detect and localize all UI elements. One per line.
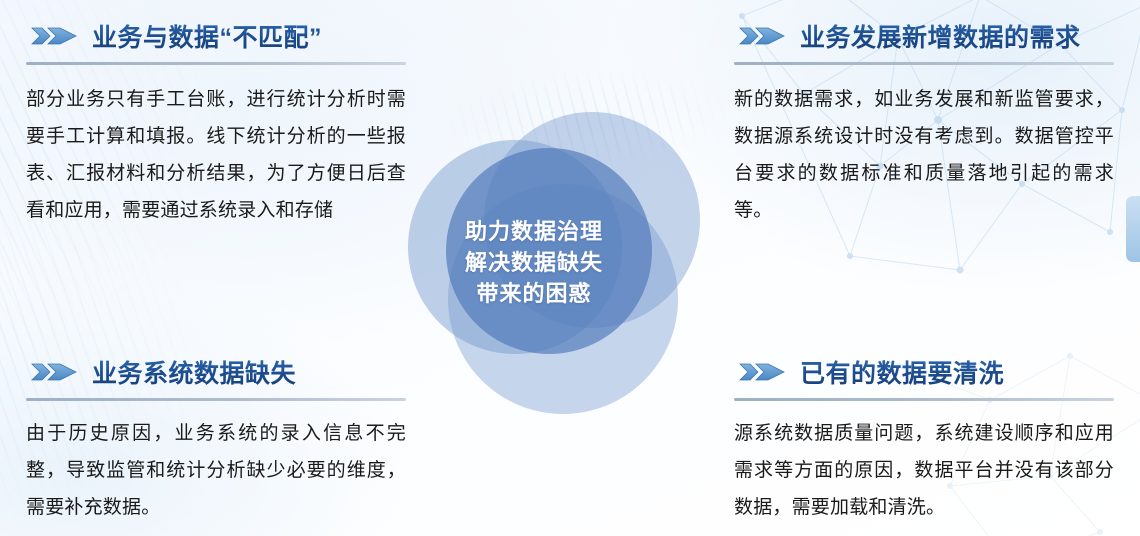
panel-grid: 业务与数据“不匹配” 部分业务只有手工台账，进行统计分析时需要手工计算和填报。线…	[0, 0, 1140, 536]
panel-divider	[734, 62, 1114, 65]
panel-top-right: 业务发展新增数据的需求 新的数据需求，如业务发展和新监管要求，数据源系统设计时没…	[710, 0, 1140, 340]
arrow-right-icon	[738, 358, 786, 386]
panel-heading-row: 业务发展新增数据的需求	[734, 16, 1114, 56]
panel-heading-row: 业务与数据“不匹配”	[26, 16, 406, 56]
slide-canvas: 助力数据治理 解决数据缺失 带来的困惑 业务与数据“不匹配”	[0, 0, 1140, 536]
panel-title: 业务系统数据缺失	[92, 354, 296, 390]
arrow-right-icon	[738, 22, 786, 50]
panel-title: 已有的数据要清洗	[800, 354, 1004, 390]
panel-bottom-right: 已有的数据要清洗 源系统数据质量问题，系统建设顺序和应用需求等方面的原因，数据平…	[710, 340, 1140, 536]
panel-title: 业务与数据“不匹配”	[92, 18, 322, 54]
panel-top-left: 业务与数据“不匹配” 部分业务只有手工台账，进行统计分析时需要手工计算和填报。线…	[0, 0, 430, 340]
panel-divider	[26, 398, 406, 401]
panel-divider	[26, 62, 406, 65]
panel-divider	[734, 398, 1114, 401]
panel-body-text: 源系统数据质量问题，系统建设顺序和应用需求等方面的原因，数据平台并没有该部分数据…	[734, 415, 1114, 526]
panel-body-text: 由于历史原因，业务系统的录入信息不完整，导致监管和统计分析缺少必要的维度，需要补…	[26, 415, 406, 526]
panel-body-text: 部分业务只有手工台账，进行统计分析时需要手工计算和填报。线下统计分析的一些报表、…	[26, 81, 406, 229]
panel-bottom-left: 业务系统数据缺失 由于历史原因，业务系统的录入信息不完整，导致监管和统计分析缺少…	[0, 340, 430, 536]
panel-heading-row: 业务系统数据缺失	[26, 352, 406, 392]
panel-heading-row: 已有的数据要清洗	[734, 352, 1114, 392]
panel-title: 业务发展新增数据的需求	[800, 18, 1081, 54]
arrow-right-icon	[30, 358, 78, 386]
arrow-right-icon	[30, 22, 78, 50]
center-spacer	[430, 0, 710, 536]
panel-body-text: 新的数据需求，如业务发展和新监管要求，数据源系统设计时没有考虑到。数据管控平台要…	[734, 81, 1114, 229]
